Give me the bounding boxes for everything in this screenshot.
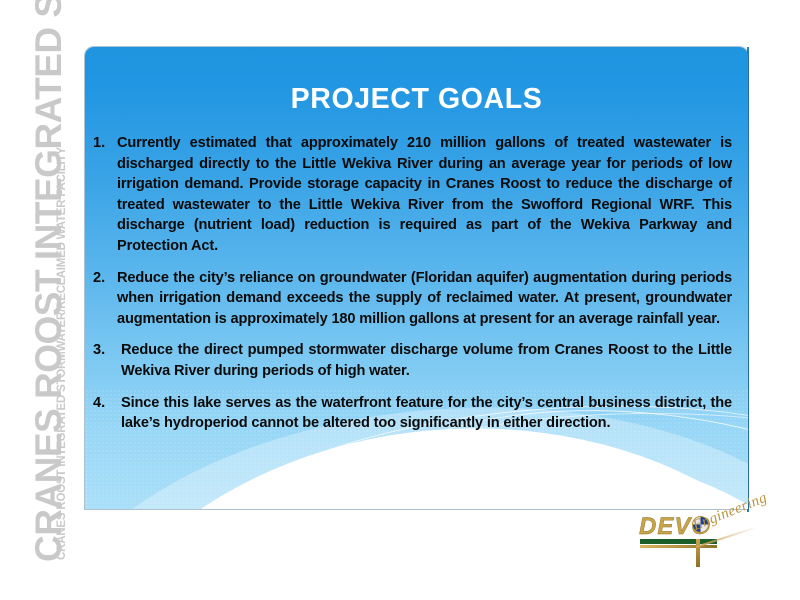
list-item-text: Currently estimated that approximately 2… bbox=[117, 133, 732, 257]
goals-list: 1. Currently estimated that approximatel… bbox=[85, 133, 748, 445]
sidebar-vertical-title: CRANES ROOST INTEGRATED STORMWATER CRANE… bbox=[0, 0, 80, 600]
list-item: 4. Since this lake serves as the waterfr… bbox=[91, 393, 732, 434]
list-item-number: 4. bbox=[91, 393, 121, 414]
list-item-number: 2. bbox=[91, 268, 117, 289]
slide-canvas: CRANES ROOST INTEGRATED STORMWATER CRANE… bbox=[0, 0, 800, 600]
sidebar-title-small: CRANES ROOST INTEGRATED STORMWATER/RECLA… bbox=[57, 30, 69, 560]
list-item: 2. Reduce the city’s reliance on groundw… bbox=[91, 268, 732, 330]
list-item-text: Reduce the city’s reliance on groundwate… bbox=[117, 268, 732, 330]
list-item-text: Reduce the direct pumped stormwater disc… bbox=[121, 340, 732, 381]
content-panel: PROJECT GOALS 1. Currently estimated tha… bbox=[85, 47, 748, 509]
logo-gold-bar bbox=[640, 545, 717, 548]
devo-engineering-logo: DEVO Engineering bbox=[639, 512, 759, 568]
list-item-number: 3. bbox=[91, 340, 121, 361]
list-item-text: Since this lake serves as the waterfront… bbox=[121, 393, 732, 434]
list-item: 3. Reduce the direct pumped stormwater d… bbox=[91, 340, 732, 381]
logo-stem bbox=[696, 539, 700, 567]
list-item: 1. Currently estimated that approximatel… bbox=[91, 133, 732, 257]
page-title: PROJECT GOALS bbox=[85, 83, 748, 116]
list-item-number: 1. bbox=[91, 133, 117, 154]
